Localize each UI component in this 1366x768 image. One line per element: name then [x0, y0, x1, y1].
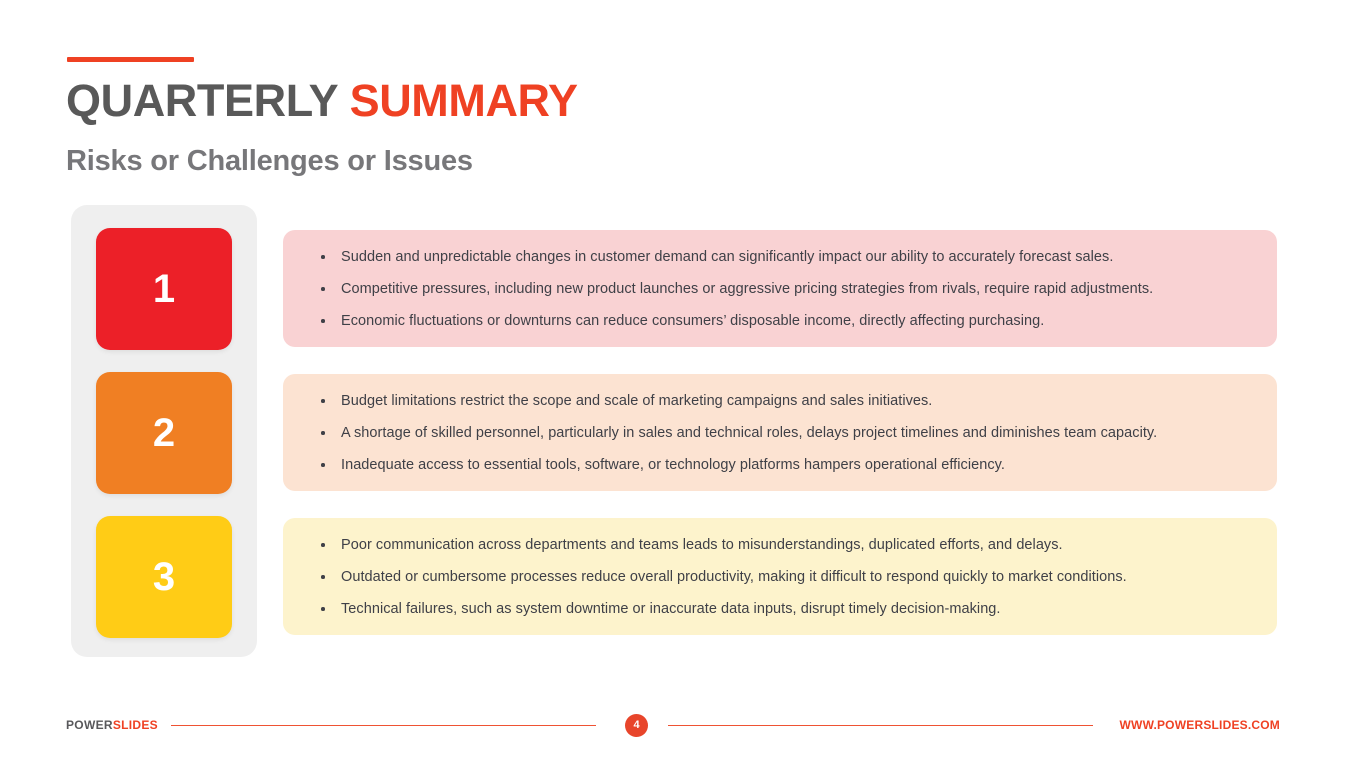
bullet-text: Economic fluctuations or downturns can r… [341, 313, 1044, 329]
list-item: Inadequate access to essential tools, so… [313, 456, 1247, 474]
footer-brand-main: POWER [66, 718, 113, 732]
title-accent-bar [67, 57, 194, 62]
content-panel-3: Poor communication across departments an… [283, 518, 1277, 635]
bullet-dot-icon [321, 255, 325, 259]
bullet-list-1: Sudden and unpredictable changes in cust… [313, 248, 1247, 330]
bullet-dot-icon [321, 399, 325, 403]
footer-brand-logo: POWERSLIDES [66, 718, 158, 732]
number-tile-1-label: 1 [153, 269, 175, 309]
list-item: Budget limitations restrict the scope an… [313, 392, 1247, 410]
list-item: Technical failures, such as system downt… [313, 600, 1247, 618]
page-title-accent: SUMMARY [350, 75, 578, 126]
footer-rule-right [668, 725, 1093, 726]
bullet-text: Inadequate access to essential tools, so… [341, 457, 1005, 473]
list-item: Sudden and unpredictable changes in cust… [313, 248, 1247, 266]
bullet-text: Budget limitations restrict the scope an… [341, 393, 932, 409]
bullet-text: Technical failures, such as system downt… [341, 601, 1001, 617]
list-item: Poor communication across departments an… [313, 536, 1247, 554]
content-panel-2: Budget limitations restrict the scope an… [283, 374, 1277, 491]
bullet-dot-icon [321, 287, 325, 291]
bullet-list-3: Poor communication across departments an… [313, 536, 1247, 618]
number-tile-2-label: 2 [153, 413, 175, 453]
page-number-label: 4 [633, 720, 639, 731]
footer-rule-left [171, 725, 596, 726]
bullet-list-2: Budget limitations restrict the scope an… [313, 392, 1247, 474]
bullet-text: Outdated or cumbersome processes reduce … [341, 569, 1127, 585]
slide-canvas: QUARTERLY SUMMARY Risks or Challenges or… [0, 0, 1366, 768]
bullet-dot-icon [321, 543, 325, 547]
number-tile-3[interactable]: 3 [96, 516, 232, 638]
bullet-dot-icon [321, 607, 325, 611]
bullet-dot-icon [321, 575, 325, 579]
number-tile-2[interactable]: 2 [96, 372, 232, 494]
list-item: Competitive pressures, including new pro… [313, 280, 1247, 298]
list-item: A shortage of skilled personnel, particu… [313, 424, 1247, 442]
bullet-text: Sudden and unpredictable changes in cust… [341, 249, 1113, 265]
list-item: Outdated or cumbersome processes reduce … [313, 568, 1247, 586]
bullet-text: A shortage of skilled personnel, particu… [341, 425, 1157, 441]
page-title-main: QUARTERLY [66, 75, 337, 126]
content-panel-1: Sudden and unpredictable changes in cust… [283, 230, 1277, 347]
number-tile-1[interactable]: 1 [96, 228, 232, 350]
footer-website-url[interactable]: WWW.POWERSLIDES.COM [1120, 718, 1280, 732]
bullet-dot-icon [321, 319, 325, 323]
page-subtitle: Risks or Challenges or Issues [66, 143, 473, 179]
bullet-dot-icon [321, 463, 325, 467]
page-title: QUARTERLY SUMMARY [66, 73, 578, 129]
bullet-text: Poor communication across departments an… [341, 537, 1063, 553]
bullet-dot-icon [321, 431, 325, 435]
footer-brand-accent: SLIDES [113, 718, 158, 732]
page-number-badge: 4 [625, 714, 648, 737]
bullet-text: Competitive pressures, including new pro… [341, 281, 1153, 297]
number-tile-3-label: 3 [153, 557, 175, 597]
list-item: Economic fluctuations or downturns can r… [313, 312, 1247, 330]
